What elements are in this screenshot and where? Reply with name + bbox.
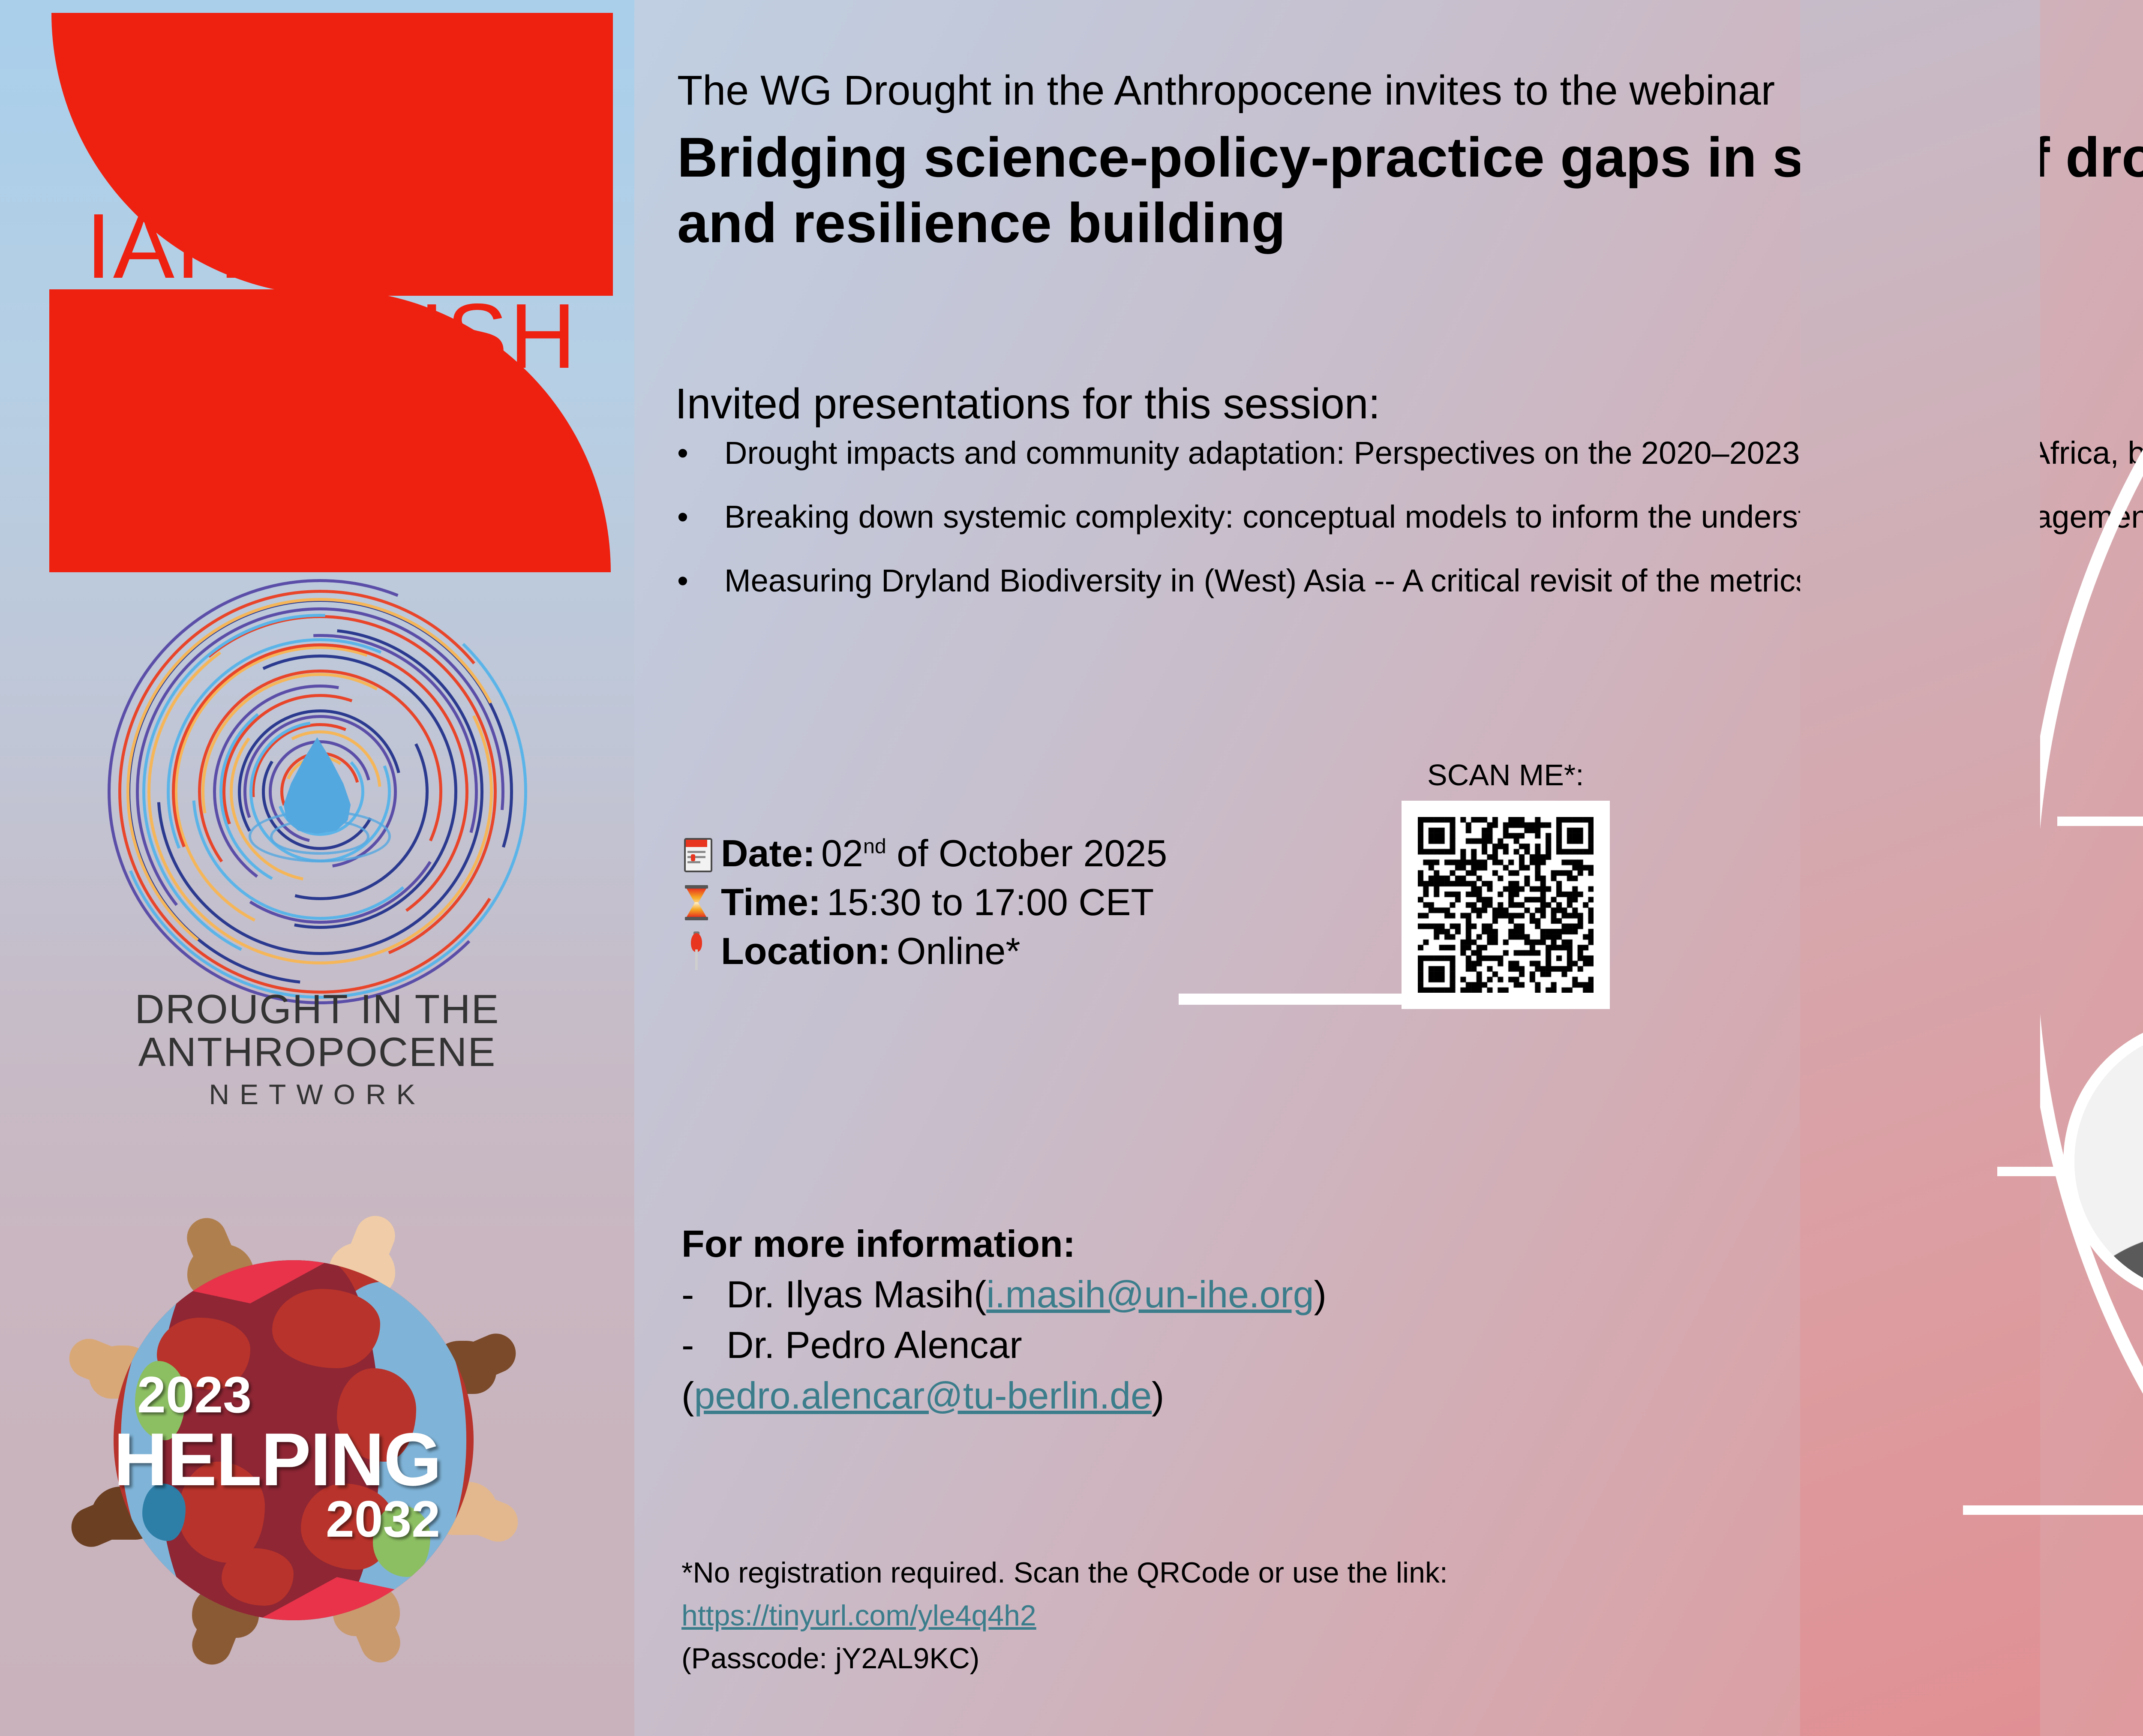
speaker-name: Rhoda Odongo [2057, 767, 2143, 811]
passcode-text: (Passcode: jY2AL9KC) [681, 1637, 1710, 1680]
event-date-row: Date: 02nd of October 2025 [681, 832, 1167, 875]
location-label: Location: [721, 929, 891, 973]
list-item: • Drought impacts and community adaptati… [677, 433, 2143, 473]
contact-person-2: Dr. Pedro Alencar [726, 1320, 1022, 1370]
email-link-alencar[interactable]: pedro.alencar@tu-berlin.de [694, 1374, 1152, 1417]
contact-person-1: Dr. Ilyas Masih(i.masih@un-ihe.org) [726, 1269, 1327, 1320]
registration-link[interactable]: https://tinyurl.com/yle4q4h2 [681, 1599, 1036, 1632]
page-title: Bridging science-policy-practice gaps in… [677, 124, 2143, 256]
iahs-logo-text-iahs: IAHS [86, 193, 308, 299]
bullet-icon: • [677, 497, 724, 537]
presentations-list: • Drought impacts and community adaptati… [677, 433, 2143, 625]
helping-2023-2032-logo: 2023 HELPING 2032 [0, 1159, 613, 1736]
list-item: • Measuring Dryland Biodiversity in (Wes… [677, 561, 2143, 601]
footnote-block: *No registration required. Scan the QRCo… [681, 1552, 1710, 1680]
speaker-divider [1963, 1505, 2143, 1515]
concentric-rings-graphic [111, 596, 523, 982]
drought-anthropocene-network-logo: DROUGHT IN THE ANTHROPOCENE NETWORK [30, 596, 604, 1127]
helping-year-end: 2032 [326, 1490, 440, 1549]
event-details: Date: 02nd of October 2025 Time: 15:30 t… [681, 832, 1167, 978]
speaker-role: PhD researcher @VUAmsterdam-IVM [2057, 827, 2143, 901]
invitation-line: The WG Drought in the Anthropocene invit… [677, 66, 1775, 114]
scan-me-label: SCAN ME*: [1427, 758, 1584, 792]
dia-logo-line-1: DROUGHT IN THE [30, 986, 604, 1033]
presentation-text: Breaking down systemic complexity: conce… [724, 497, 2143, 537]
contact-heading: For more information: [681, 1219, 1582, 1269]
location-to-qr-connector [1179, 994, 1436, 1005]
date-value: 02nd of October 2025 [821, 832, 1167, 875]
bullet-icon: • [677, 561, 724, 601]
contact-block: For more information: - Dr. Ilyas Masih(… [681, 1219, 1582, 1421]
left-logo-sidebar: IAHS AISH DROUGHT IN THE ANTHROPOCENE NE… [0, 0, 634, 1736]
location-value: Online* [897, 929, 1020, 973]
calendar-icon [681, 833, 711, 874]
contact-row-2-email: (pedro.alencar@tu-berlin.de) [681, 1370, 1582, 1421]
invited-presentations-heading: Invited presentations for this session: [675, 379, 1380, 429]
event-time-row: Time: 15:30 to 17:00 CET [681, 880, 1167, 924]
contact-row-1: - Dr. Ilyas Masih(i.masih@un-ihe.org) [681, 1269, 1582, 1320]
date-label: Date: [721, 832, 815, 875]
iahs-logo-text-aish: AISH [356, 283, 578, 389]
iahs-aish-logo: IAHS AISH [17, 4, 609, 562]
speaker-name: Dr. Suyu Liu [1886, 1457, 2143, 1501]
speaker-role: Co-Chair of UNCCD Community of Learning … [1886, 1520, 2143, 1631]
time-value: 15:30 to 17:00 CET [827, 880, 1154, 924]
event-location-row: Location: Online* [681, 929, 1167, 973]
list-item: • Breaking down systemic complexity: con… [677, 497, 2143, 537]
qr-code[interactable] [1402, 801, 1610, 1009]
email-link-masih[interactable]: i.masih@un-ihe.org [986, 1273, 1314, 1316]
footnote-line: *No registration required. Scan the QRCo… [681, 1552, 1710, 1595]
speaker-divider [2057, 817, 2143, 826]
dash-marker: - [681, 1269, 726, 1320]
bullet-icon: • [677, 433, 724, 473]
hourglass-icon [681, 882, 711, 923]
location-pin-icon [681, 931, 711, 972]
presentation-text: Drought impacts and community adaptation… [724, 433, 2143, 473]
dia-logo-line-3: NETWORK [30, 1078, 604, 1111]
dia-logo-line-2: ANTHROPOCENE [30, 1029, 604, 1076]
webinar-poster: IAHS AISH DROUGHT IN THE ANTHROPOCENE NE… [0, 0, 2143, 1736]
time-label: Time: [721, 880, 821, 924]
contact-row-2: - Dr. Pedro Alencar [681, 1320, 1582, 1370]
helping-year-start: 2023 [137, 1365, 252, 1424]
qr-code-canvas[interactable] [1418, 817, 1594, 993]
dash-marker: - [681, 1320, 726, 1370]
presentation-text: Measuring Dryland Biodiversity in (West)… [724, 561, 2143, 601]
